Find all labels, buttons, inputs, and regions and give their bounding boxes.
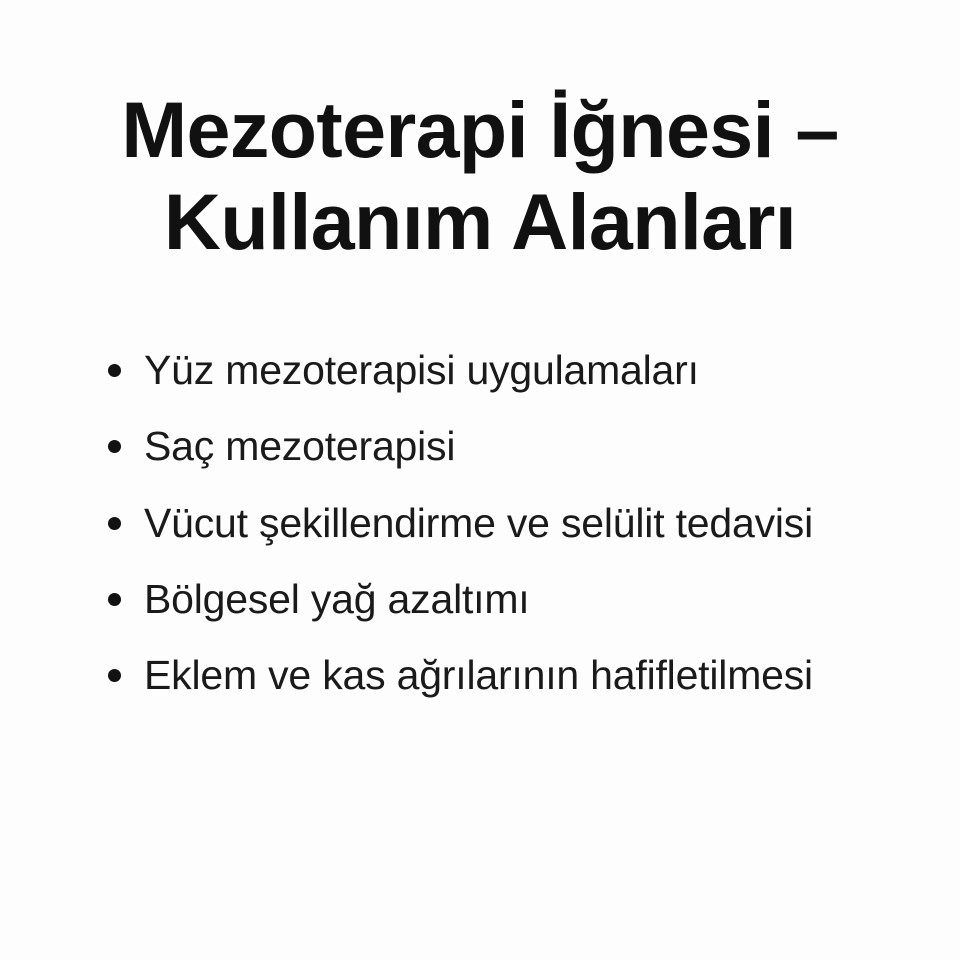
page-title-line-2: Kullanım Alanları: [40, 176, 920, 268]
list-item: Yüz mezoterapisi uygulamaları: [108, 348, 938, 392]
slide-canvas: Mezoterapi İğnesi – Kullanım Alanları Yü…: [0, 0, 960, 960]
list-item-label: Vücut şekillendirme ve selülit tedavisi: [144, 501, 938, 545]
bullet-dot-icon: [108, 517, 121, 530]
list-item: Saç mezoterapisi: [108, 424, 938, 468]
list-item-label: Eklem ve kas ağrılarının hafifletilmesi: [144, 653, 938, 697]
list-item-label: Yüz mezoterapisi uygulamaları: [144, 348, 938, 392]
usage-areas-list: Yüz mezoterapisi uygulamaları Saç mezote…: [108, 348, 938, 697]
list-item: Vücut şekillendirme ve selülit tedavisi: [108, 501, 938, 545]
list-item-label: Bölgesel yağ azaltımı: [144, 577, 938, 621]
bullet-dot-icon: [108, 669, 121, 682]
page-title: Mezoterapi İğnesi – Kullanım Alanları: [0, 84, 960, 267]
bullet-dot-icon: [108, 593, 121, 606]
bullet-dot-icon: [108, 364, 121, 377]
list-item: Eklem ve kas ağrılarının hafifletilmesi: [108, 653, 938, 697]
page-title-line-1: Mezoterapi İğnesi –: [40, 84, 920, 176]
list-item-label: Saç mezoterapisi: [144, 424, 938, 468]
bullet-dot-icon: [108, 440, 121, 453]
list-item: Bölgesel yağ azaltımı: [108, 577, 938, 621]
